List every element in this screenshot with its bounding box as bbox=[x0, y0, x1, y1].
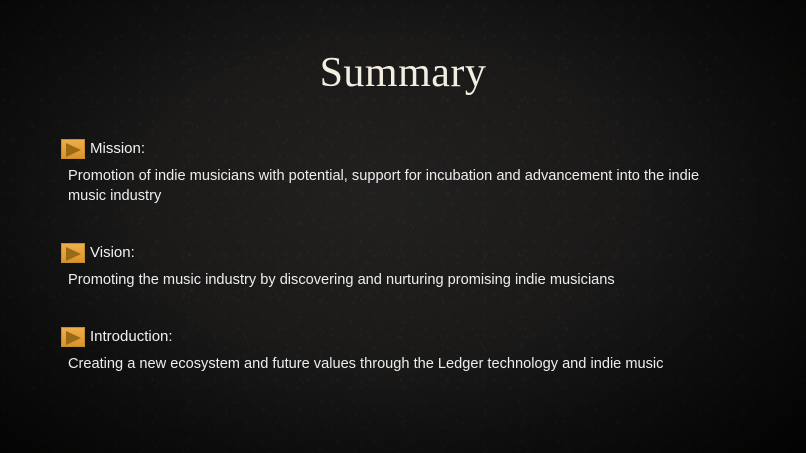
section-introduction-heading: Introduction: bbox=[90, 327, 173, 346]
section-vision-heading: Vision: bbox=[90, 243, 135, 262]
section-mission-heading-row: Mission: bbox=[61, 138, 751, 159]
section-vision-body: Promoting the music industry by discover… bbox=[68, 270, 768, 290]
play-triangle-icon bbox=[61, 139, 85, 159]
section-vision-heading-row: Vision: bbox=[61, 242, 751, 263]
section-introduction: Introduction: Creating a new ecosystem a… bbox=[61, 326, 751, 374]
presentation-slide: Summary Mission: Promotion of indie musi… bbox=[0, 0, 806, 453]
slide-title: Summary bbox=[0, 52, 806, 94]
section-vision: Vision: Promoting the music industry by … bbox=[61, 242, 751, 290]
play-triangle-icon bbox=[61, 243, 85, 263]
section-introduction-body: Creating a new ecosystem and future valu… bbox=[68, 354, 768, 374]
section-introduction-heading-row: Introduction: bbox=[61, 326, 751, 347]
slide-content: Summary Mission: Promotion of indie musi… bbox=[0, 0, 806, 453]
section-mission: Mission: Promotion of indie musicians wi… bbox=[61, 138, 751, 206]
section-mission-heading: Mission: bbox=[90, 139, 145, 158]
play-triangle-icon bbox=[61, 327, 85, 347]
section-mission-body: Promotion of indie musicians with potent… bbox=[68, 166, 730, 206]
